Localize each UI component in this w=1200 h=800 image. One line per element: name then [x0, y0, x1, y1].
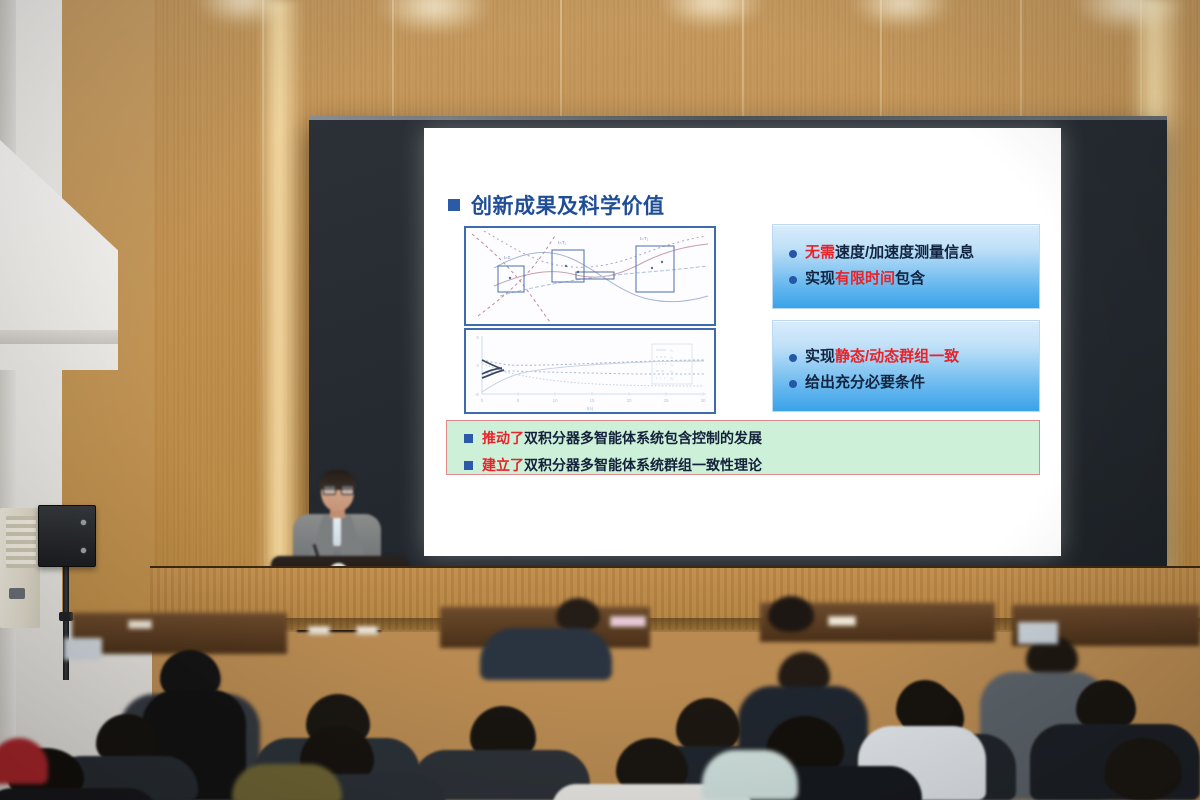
desk-tag — [128, 620, 152, 629]
svg-text:30: 30 — [700, 398, 706, 403]
round-bullet-icon — [789, 276, 797, 284]
svg-text:5: 5 — [517, 398, 520, 403]
svg-text:t=0: t=0 — [504, 255, 511, 260]
air-conditioner-vents — [6, 516, 36, 568]
bullet-text: 给出充分必要条件 — [805, 373, 925, 393]
bullet-item: 实现有限时间包含 — [789, 269, 1031, 289]
audience-area — [0, 598, 1200, 800]
svg-text:0: 0 — [481, 398, 484, 403]
laptop-screen — [64, 638, 102, 660]
conclusion-box: 推动了双积分器多智能体系统包含控制的发展 建立了双积分器多智能体系统群组一致性理… — [446, 420, 1040, 475]
svg-text:t(s): t(s) — [587, 406, 594, 411]
slide-title-text: 创新成果及科学价值 — [471, 190, 665, 220]
svg-text:10: 10 — [552, 398, 558, 403]
svg-text:x₄: x₄ — [670, 370, 674, 374]
highlight-red: 静态/动态群组一致 — [835, 348, 959, 365]
highlight-box-2: 实现静态/动态群组一致 给出充分必要条件 — [772, 320, 1040, 412]
desk-tag — [356, 626, 378, 635]
svg-text:-5: -5 — [475, 392, 480, 397]
conclusion-text: 推动了双积分器多智能体系统包含控制的发展 — [482, 428, 762, 448]
bullet-rest: 速度/加速度测量信息 — [835, 244, 974, 261]
conclusion-rest: 双积分器多智能体系统包含控制的发展 — [524, 430, 762, 446]
audience-body — [0, 788, 160, 800]
bullet-item: 实现静态/动态群组一致 — [789, 347, 1031, 367]
balcony-edge — [0, 330, 118, 344]
svg-text:25: 25 — [663, 398, 669, 403]
highlight-red: 有限时间 — [835, 270, 895, 287]
desk-tag — [828, 616, 856, 626]
figure-containment-diagram: t=0 t=T₁ t=T₂ — [464, 226, 716, 326]
svg-text:t=T₂: t=T₂ — [640, 236, 649, 241]
conclusion-rest: 双积分器多智能体系统群组一致性理论 — [524, 457, 762, 473]
lecture-desk — [72, 612, 287, 654]
audience-head — [896, 680, 954, 732]
round-bullet-icon — [789, 250, 797, 258]
audience-body-red-jacket — [0, 738, 48, 784]
conclusion-item: 建立了双积分器多智能体系统群组一致性理论 — [464, 455, 1039, 475]
bullet-text: 实现静态/动态群组一致 — [805, 347, 959, 367]
figure-consensus-plot: 0510 152025 30 t(s) 50-5 — [464, 328, 716, 414]
highlight-red: 建立了 — [482, 457, 524, 473]
conclusion-item: 推动了双积分器多智能体系统包含控制的发展 — [464, 428, 1039, 448]
slide-title: 创新成果及科学价值 — [448, 190, 665, 220]
round-bullet-icon — [789, 380, 797, 388]
square-bullet-icon — [464, 461, 473, 470]
pa-speaker — [38, 505, 96, 567]
audience-head — [556, 598, 600, 632]
svg-text:0: 0 — [476, 363, 479, 368]
square-bullet-icon — [464, 434, 473, 443]
bullet-item: 无需速度/加速度测量信息 — [789, 243, 1031, 263]
audience-body-mint-jacket — [702, 750, 798, 800]
svg-text:15: 15 — [589, 398, 595, 403]
svg-text:x₃: x₃ — [670, 363, 674, 367]
svg-text:5: 5 — [476, 335, 479, 340]
bullet-rest: 包含 — [895, 270, 925, 287]
bullet-item: 给出充分必要条件 — [789, 373, 1031, 393]
bullet-text: 实现有限时间包含 — [805, 269, 925, 289]
square-bullet-icon — [448, 199, 460, 211]
desk-tag — [308, 626, 330, 635]
eyeglasses-icon — [323, 485, 352, 494]
highlight-box-1: 无需速度/加速度测量信息 实现有限时间包含 — [772, 224, 1040, 309]
svg-text:x₁: x₁ — [670, 349, 674, 353]
round-bullet-icon — [789, 354, 797, 362]
bullet-text: 无需速度/加速度测量信息 — [805, 243, 974, 263]
svg-text:t=T₁: t=T₁ — [558, 240, 567, 245]
presentation-slide: 创新成果及科学价值 t=0 — [424, 128, 1061, 556]
svg-text:x₂: x₂ — [670, 356, 674, 360]
projection-screen-top-edge — [309, 116, 1167, 120]
svg-text:x₅: x₅ — [670, 377, 674, 381]
audience-head — [768, 596, 814, 632]
conclusion-text: 建立了双积分器多智能体系统群组一致性理论 — [482, 455, 762, 475]
highlight-red: 推动了 — [482, 430, 524, 446]
lecture-hall-photo: 创新成果及科学价值 t=0 — [0, 0, 1200, 800]
bullet-lead: 实现 — [805, 270, 835, 287]
highlight-red: 无需 — [805, 244, 835, 261]
audience-head — [1104, 738, 1182, 800]
audience-body-olive-jacket — [232, 764, 342, 800]
svg-text:20: 20 — [626, 398, 632, 403]
laptop-screen — [1018, 622, 1058, 644]
audience-body — [480, 628, 612, 680]
bullet-lead: 实现 — [805, 348, 835, 365]
desk-tag — [610, 616, 646, 627]
